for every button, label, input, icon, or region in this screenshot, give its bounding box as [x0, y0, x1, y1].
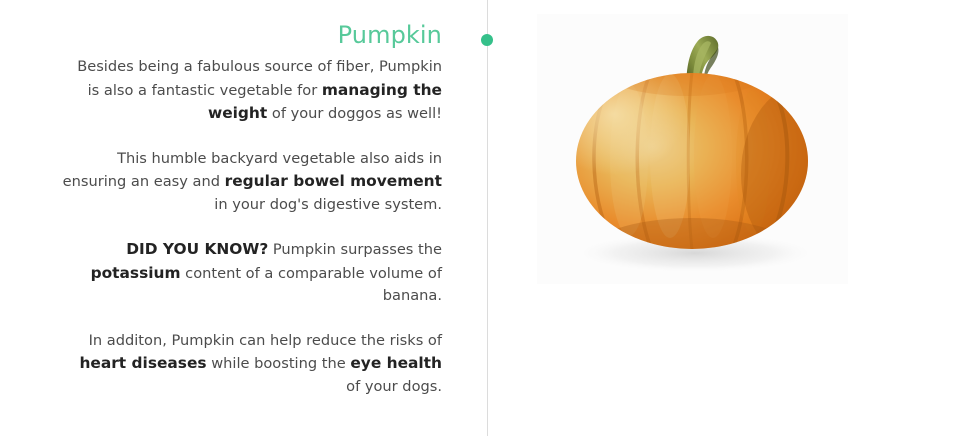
emphasis-text: eye health — [350, 354, 442, 372]
pumpkin-photo-icon — [537, 14, 848, 284]
emphasis-text: regular bowel movement — [225, 172, 442, 190]
timeline-axis — [487, 0, 488, 436]
body-text: in your dog's digestive system. — [214, 196, 442, 213]
paragraph-heart-eye: In additon, Pumpkin can help reduce the … — [62, 330, 442, 399]
paragraph-did-you-know: DID YOU KNOW? Pumpkin surpasses the pota… — [62, 238, 442, 308]
paragraph-bowel-movement: This humble backyard vegetable also aids… — [62, 148, 442, 217]
emphasis-text: DID YOU KNOW? — [126, 240, 268, 258]
timeline-marker-dot[interactable] — [481, 34, 493, 46]
body-text: Pumpkin surpasses the — [268, 241, 442, 258]
body-text: of your doggos as well! — [267, 105, 442, 122]
emphasis-text: heart diseases — [79, 354, 206, 372]
body-text: while boosting the — [207, 355, 351, 372]
emphasis-text: potassium — [91, 264, 181, 282]
body-text: In additon, Pumpkin can help reduce the … — [89, 332, 442, 349]
body-text: of your dogs. — [346, 378, 442, 395]
page-title: Pumpkin — [62, 20, 442, 50]
paragraph-fiber-weight: Besides being a fabulous source of fiber… — [62, 56, 442, 126]
pumpkin-image-panel — [537, 14, 848, 284]
entry-content-column: Pumpkin Besides being a fabulous source … — [62, 20, 442, 398]
body-text: content of a comparable volume of banana… — [181, 265, 442, 305]
